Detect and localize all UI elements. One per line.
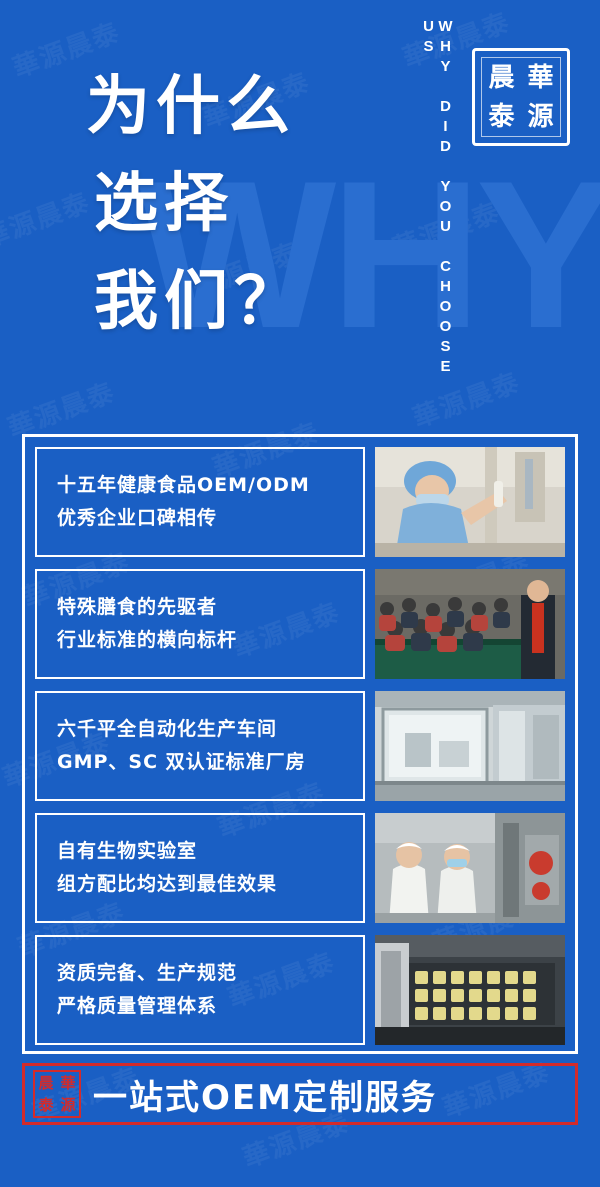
footer-slogan: 一站式OEM定制服务 bbox=[93, 1070, 437, 1119]
seal-char-bottom-right: 源 bbox=[527, 104, 553, 130]
advantage-text-1: 十五年健康食品OEM/ODM 优秀企业口碑相传 bbox=[35, 447, 365, 557]
brand-seal-inner: 晨 華 泰 源 bbox=[481, 57, 561, 137]
photo-workers-machine bbox=[375, 813, 565, 923]
photo-lab-technician bbox=[375, 447, 565, 557]
footer-seal-char-top-right: 華 bbox=[60, 1076, 75, 1091]
advantage-line-3b: GMP、SC 双认证标准厂房 bbox=[57, 746, 343, 779]
seal-char-top-right: 華 bbox=[527, 65, 553, 91]
brand-seal-logo: 晨 華 泰 源 bbox=[472, 48, 570, 146]
advantage-line-2a: 特殊膳食的先驱者 bbox=[57, 591, 343, 624]
vertical-english-caption: WHY DID YOU CHOOSE US bbox=[420, 18, 454, 398]
list-item: 自有生物实验室 组方配比均达到最佳效果 bbox=[35, 813, 565, 923]
photo-tablet-press bbox=[375, 935, 565, 1045]
list-item: 六千平全自动化生产车间 GMP、SC 双认证标准厂房 bbox=[35, 691, 565, 801]
advantages-panel: 十五年健康食品OEM/ODM 优秀企业口碑相传 bbox=[22, 434, 578, 1054]
photo-clean-room bbox=[375, 691, 565, 801]
list-item: 资质完备、生产规范 严格质量管理体系 bbox=[35, 935, 565, 1045]
seal-char-top-left: 晨 bbox=[488, 65, 514, 91]
advantage-line-3a: 六千平全自动化生产车间 bbox=[57, 713, 343, 746]
footer-seal-char-bottom-left: 泰 bbox=[38, 1098, 53, 1113]
list-item: 十五年健康食品OEM/ODM 优秀企业口碑相传 bbox=[35, 447, 565, 557]
headline-line-2: 选择 bbox=[86, 155, 304, 252]
headline-line-3: 我们？ bbox=[86, 253, 304, 350]
footer-seal-char-top-left: 晨 bbox=[38, 1076, 53, 1091]
advantage-line-4a: 自有生物实验室 bbox=[57, 835, 343, 868]
footer-seal-char-bottom-right: 源 bbox=[60, 1098, 75, 1113]
advantage-line-5a: 资质完备、生产规范 bbox=[57, 957, 343, 990]
advantage-text-5: 资质完备、生产规范 严格质量管理体系 bbox=[35, 935, 365, 1045]
advantage-text-4: 自有生物实验室 组方配比均达到最佳效果 bbox=[35, 813, 365, 923]
advantage-line-1b: 优秀企业口碑相传 bbox=[57, 502, 343, 535]
watermark-text: 華源晨泰 bbox=[0, 182, 95, 255]
headline-line-1: 为什么 bbox=[86, 58, 304, 155]
photo-conference-audience bbox=[375, 569, 565, 679]
advantage-line-4b: 组方配比均达到最佳效果 bbox=[57, 868, 343, 901]
poster-root: 華源晨泰 華源晨泰 華源晨泰 華源晨泰 華源晨泰 華源晨泰 華源晨泰 華源晨泰 … bbox=[0, 0, 600, 1187]
footer-seal-logo: 晨 華 泰 源 bbox=[33, 1070, 81, 1118]
advantage-text-3: 六千平全自动化生产车间 GMP、SC 双认证标准厂房 bbox=[35, 691, 365, 801]
list-item: 特殊膳食的先驱者 行业标准的横向标杆 bbox=[35, 569, 565, 679]
advantage-line-5b: 严格质量管理体系 bbox=[57, 990, 343, 1023]
seal-char-bottom-left: 泰 bbox=[488, 104, 514, 130]
page-title: 为什么 选择 我们？ bbox=[86, 58, 304, 350]
advantage-line-1a: 十五年健康食品OEM/ODM bbox=[57, 469, 343, 502]
advantage-line-2b: 行业标准的横向标杆 bbox=[57, 624, 343, 657]
footer-banner: 晨 華 泰 源 一站式OEM定制服务 bbox=[22, 1063, 578, 1125]
advantage-text-2: 特殊膳食的先驱者 行业标准的横向标杆 bbox=[35, 569, 365, 679]
